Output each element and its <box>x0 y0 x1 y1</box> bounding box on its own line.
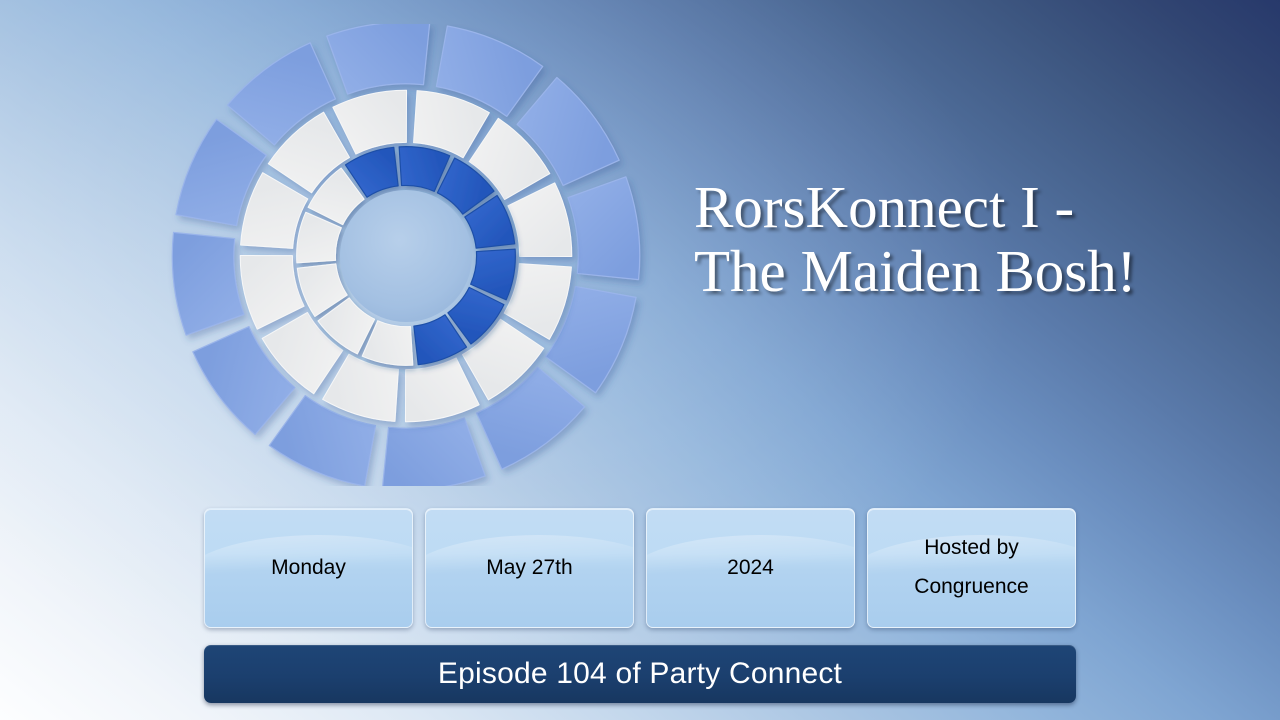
date-box-label: May 27th <box>478 549 580 588</box>
date-box: May 27th <box>425 508 634 628</box>
episode-banner-label: Episode 104 of Party Connect <box>438 657 842 691</box>
episode-banner: Episode 104 of Party Connect <box>204 645 1076 703</box>
host-box-line-2: Congruence <box>914 575 1028 598</box>
slide-title-line-1: RorsKonnect I - <box>694 176 1254 240</box>
radial-segmented-donut-logo <box>142 24 670 486</box>
day-box-label: Monday <box>263 549 354 588</box>
slide-title: RorsKonnect I - The Maiden Bosh! <box>694 176 1254 303</box>
logo-hub <box>340 190 472 322</box>
day-box: Monday <box>204 508 413 628</box>
presentation-slide: RorsKonnect I - The Maiden Bosh! Monday … <box>0 0 1280 720</box>
year-box-label: 2024 <box>719 549 782 588</box>
host-box: Hosted by Congruence <box>867 508 1076 628</box>
event-details-row: Monday May 27th 2024 Hosted by Congruenc… <box>204 508 1076 628</box>
host-box-label: Hosted by Congruence <box>906 529 1036 607</box>
slide-title-line-2: The Maiden Bosh! <box>694 240 1254 304</box>
year-box: 2024 <box>646 508 855 628</box>
host-box-line-1: Hosted by <box>924 536 1019 559</box>
